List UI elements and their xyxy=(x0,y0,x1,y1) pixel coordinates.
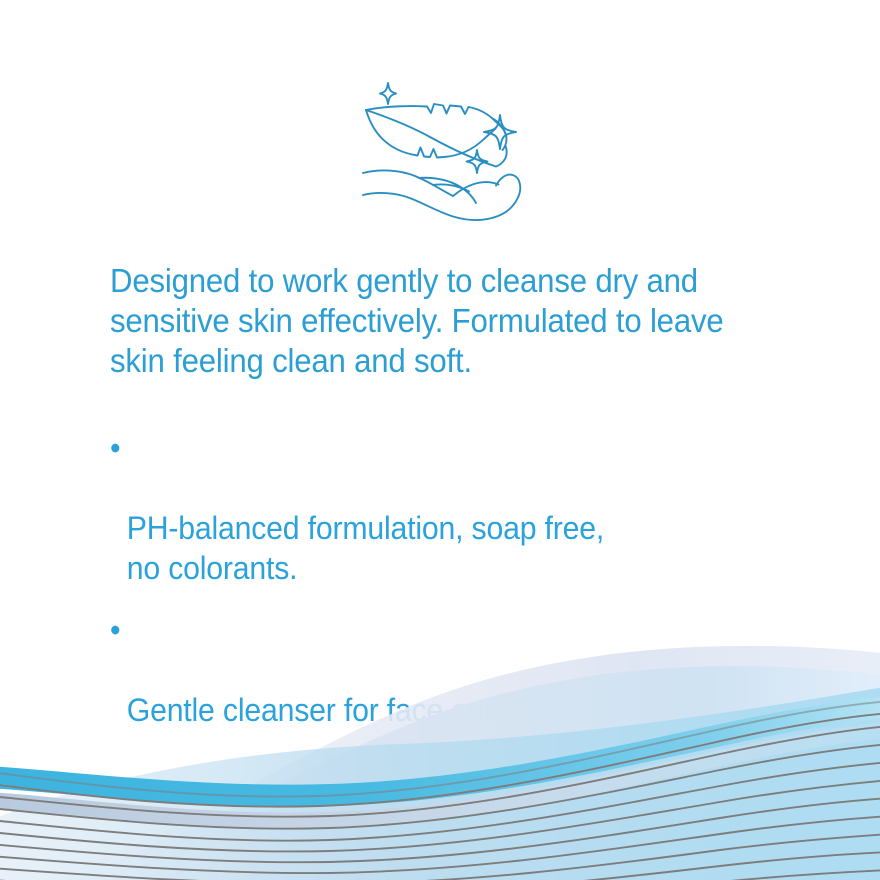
wave-graphic xyxy=(0,620,880,880)
leaf-in-hand-icon xyxy=(0,72,880,232)
leaf-icon xyxy=(366,104,507,167)
sparkle-top-icon xyxy=(380,83,396,104)
hand-icon xyxy=(363,170,520,220)
lede-paragraph: Designed to work gently to cleanse dry a… xyxy=(110,262,761,382)
bullet-glyph: • xyxy=(110,428,120,468)
list-item: • PH-balanced formulation, soap free, no… xyxy=(110,428,761,588)
list-item-label: PH-balanced formulation, soap free, no c… xyxy=(127,510,604,586)
sparkle-right-icon xyxy=(484,115,516,149)
sparkle-lower-icon xyxy=(467,150,488,173)
product-benefits-card: Designed to work gently to cleanse dry a… xyxy=(0,0,880,880)
